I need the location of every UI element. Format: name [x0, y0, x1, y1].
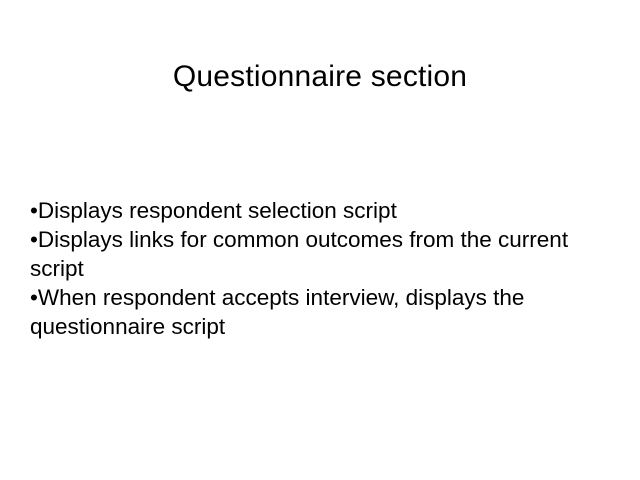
list-item: •Displays links for common outcomes from… — [30, 225, 616, 283]
bullet-icon: • — [30, 227, 38, 252]
list-item: •Displays respondent selection script — [30, 196, 616, 225]
bullet-icon: • — [30, 285, 38, 310]
bullet-list: •Displays respondent selection script •D… — [30, 196, 616, 341]
list-item: •When respondent accepts interview, disp… — [30, 283, 616, 341]
slide-body: •Displays respondent selection script •D… — [30, 196, 616, 341]
bullet-icon: • — [30, 198, 38, 223]
slide: Questionnaire section •Displays responde… — [0, 0, 640, 480]
list-item-label: Displays respondent selection script — [38, 198, 397, 223]
list-item-label: When respondent accepts interview, displ… — [30, 285, 524, 339]
page-title: Questionnaire section — [0, 58, 640, 96]
list-item-label: Displays links for common outcomes from … — [30, 227, 568, 281]
